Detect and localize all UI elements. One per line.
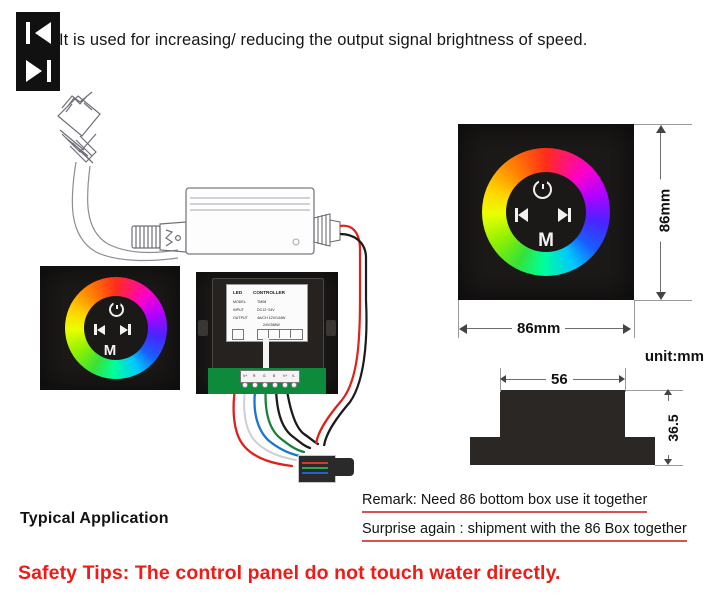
typical-application-caption: Typical Application xyxy=(20,510,169,528)
terminal-screw xyxy=(262,382,268,388)
dim-arrow-down xyxy=(656,292,666,300)
power-button[interactable] xyxy=(533,180,552,199)
previous-button-small[interactable] xyxy=(94,324,105,335)
touch-panel-back-view: LED CONTROLLER MODEL TM08 INPUT DC12~24V… xyxy=(196,272,338,394)
power-icon xyxy=(533,180,552,199)
connector-wire-blue xyxy=(302,472,328,474)
dim-arrow-right xyxy=(623,324,631,334)
mode-button[interactable]: M xyxy=(458,230,634,252)
terminal-block: V+ R G B V+ V- xyxy=(240,370,300,383)
profile-ext-bot xyxy=(655,465,683,466)
profile-base-flange xyxy=(470,437,655,465)
label-title-right: CONTROLLER xyxy=(253,290,285,295)
terminal-label-1: R xyxy=(253,374,255,378)
label-row-3-val: 24V/288W xyxy=(263,323,280,327)
profile-arrow-down xyxy=(664,459,672,465)
touch-panel-front-small[interactable]: M xyxy=(40,266,180,390)
terminal-label-0: V+ xyxy=(243,374,247,378)
label-row-1-val: DC12~24V xyxy=(257,308,275,312)
remark-line-2: Surprise again : shipment with the 86 Bo… xyxy=(362,521,687,542)
next-triangle-icon-small xyxy=(120,325,128,335)
dimension-width-label: 86mm xyxy=(512,320,565,337)
terminal-label-2: G xyxy=(263,374,266,378)
label-table-div1 xyxy=(268,329,269,338)
label-row-2-key: OUTPUT xyxy=(233,316,248,320)
rgb-connector xyxy=(298,455,336,483)
terminal-screw xyxy=(272,382,278,388)
terminal-screw xyxy=(252,382,258,388)
mount-tab-left xyxy=(198,320,208,336)
controller-spec-label: LED CONTROLLER MODEL TM08 INPUT DC12~24V… xyxy=(226,284,308,342)
profile-height-label: 36.5 xyxy=(665,401,681,455)
profile-ext-top xyxy=(625,390,683,391)
label-row-0-key: MODEL xyxy=(233,300,246,304)
label-row-0-val: TM08 xyxy=(257,300,266,304)
profile-ext-right xyxy=(625,368,626,392)
label-row-1-key: INPUT xyxy=(233,308,244,312)
next-triangle-icon xyxy=(558,208,568,222)
profile-width-label: 56 xyxy=(546,371,573,388)
next-button-small[interactable] xyxy=(120,324,131,335)
power-icon-small xyxy=(109,302,124,317)
terminal-screw xyxy=(242,382,248,388)
profile-upper-body xyxy=(500,390,625,442)
dim-ext-right2 xyxy=(634,300,635,338)
next-bar-icon-small xyxy=(128,324,131,335)
label-title-left: LED xyxy=(233,290,242,295)
prev-triangle-icon xyxy=(518,208,528,222)
label-table-div3 xyxy=(290,329,291,338)
unit-note: unit:mm xyxy=(645,348,704,365)
prev-triangle-icon-small xyxy=(97,325,105,335)
profile-arrow-up xyxy=(664,389,672,395)
profile-arrow-right xyxy=(619,375,625,383)
dim-arrow-up xyxy=(656,125,666,133)
dimension-height-label: 86mm xyxy=(657,180,674,242)
remark-line-1: Remark: Need 86 bottom box use it togeth… xyxy=(362,492,647,513)
safety-tips-text: Safety Tips: The control panel do not to… xyxy=(18,562,561,585)
dim-ext-bottom xyxy=(634,300,692,301)
terminal-screw xyxy=(291,382,297,388)
label-mark-box xyxy=(232,329,244,340)
terminal-label-5: V- xyxy=(292,374,295,378)
terminal-screw xyxy=(282,382,288,388)
mode-button-small[interactable]: M xyxy=(40,342,180,359)
next-button[interactable] xyxy=(558,208,571,222)
power-button-small[interactable] xyxy=(109,302,124,317)
profile-arrow-left xyxy=(500,375,506,383)
touch-panel-front-view[interactable]: M xyxy=(458,124,634,300)
previous-button[interactable] xyxy=(515,208,528,222)
label-row-2-val: 4A/CH 12V/144W xyxy=(257,316,285,320)
terminal-label-4: V+ xyxy=(283,374,287,378)
label-table-div2 xyxy=(279,329,280,338)
dim-arrow-left xyxy=(459,324,467,334)
connector-wire-green xyxy=(302,467,328,469)
next-bar-icon xyxy=(568,208,571,222)
terminal-label-3: B xyxy=(273,374,275,378)
rgb-connector-shell xyxy=(332,458,354,476)
connector-wire-red xyxy=(302,462,328,464)
mount-tab-right xyxy=(326,320,336,336)
application-line-drawing xyxy=(0,0,460,520)
